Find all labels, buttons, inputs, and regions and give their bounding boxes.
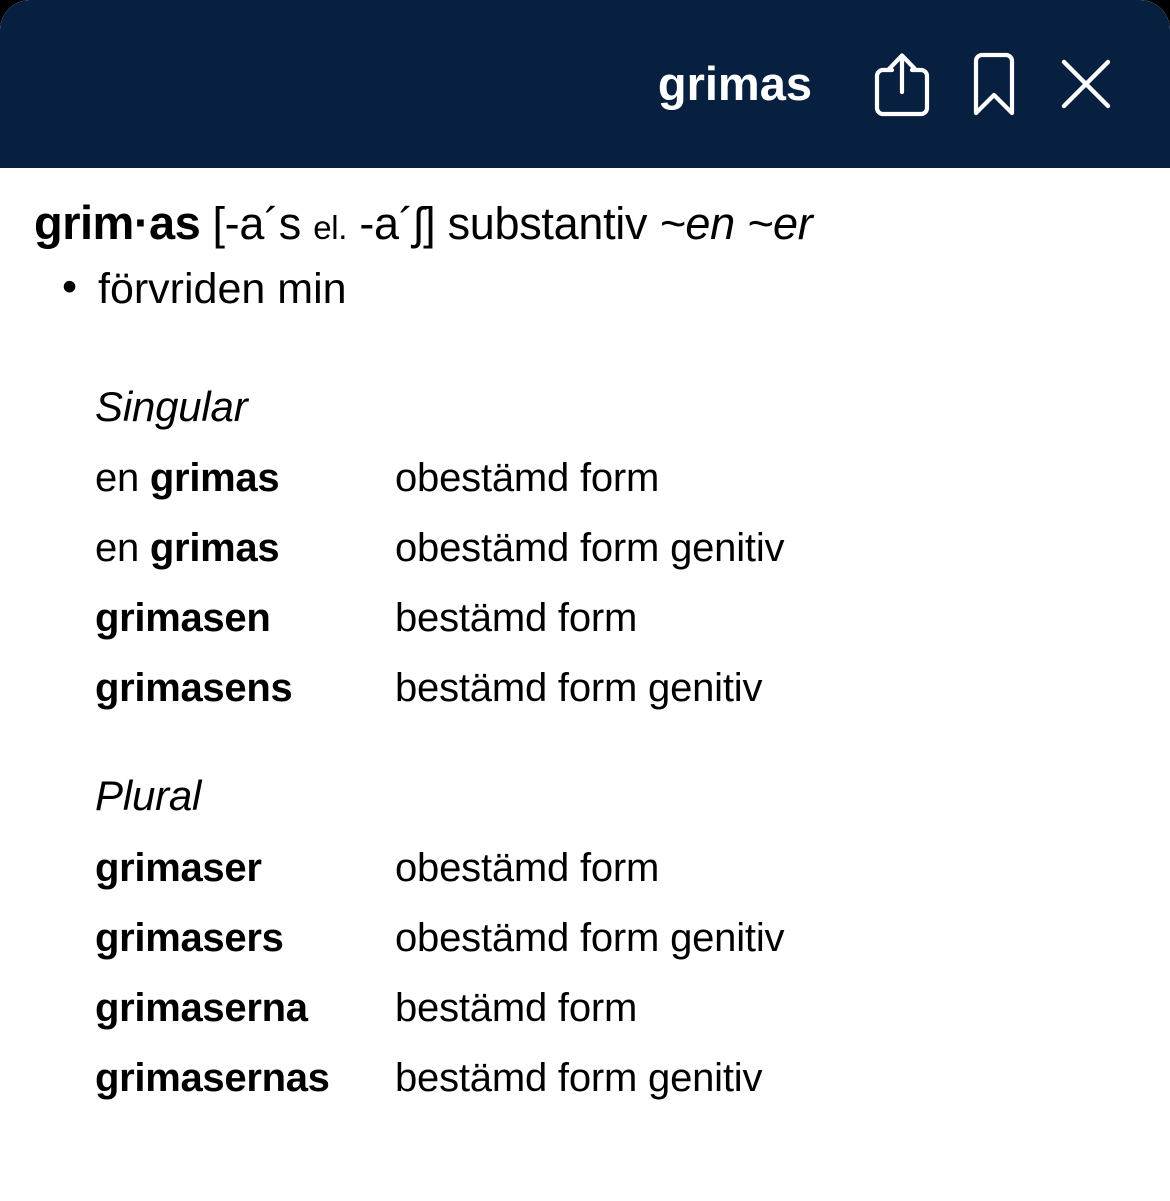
bookmark-icon <box>970 50 1018 118</box>
inflection-description: obestämd form <box>395 833 659 903</box>
inflection-row: grimaser obestämd form <box>95 833 1136 903</box>
inflection-form-cell: en grimas <box>95 513 395 583</box>
inflection-form: grimaser <box>95 846 262 890</box>
phonetic-alternative-label: el. <box>313 209 347 246</box>
inflection-row: en grimas obestämd form genitiv <box>95 513 1136 583</box>
inflection-description: bestämd form genitiv <box>395 1043 762 1113</box>
dictionary-entry-screen: grimas <box>0 0 1170 1201</box>
phonetic-close: -a´ʃ] <box>359 198 435 249</box>
inflection-row: grimasernas bestämd form genitiv <box>95 1043 1136 1113</box>
inflection-form-cell: grimasen <box>95 583 395 653</box>
inflection-row: grimasen bestämd form <box>95 583 1136 653</box>
page-title: grimas <box>658 60 812 109</box>
inflection-form-cell: grimasers <box>95 903 395 973</box>
inflection-form-cell: grimaser <box>95 833 395 903</box>
inflection-form: grimasernas <box>95 1056 330 1100</box>
inflection-description: bestämd form <box>395 583 637 653</box>
inflection-form-cell: grimasernas <box>95 1043 395 1113</box>
inflection-description: obestämd form <box>395 443 659 513</box>
definition-item: förvriden min <box>62 262 1136 318</box>
inflection-article: en <box>95 456 139 500</box>
inflection-form: grimas <box>150 526 279 570</box>
inflection-heading: Plural <box>95 771 1136 821</box>
inflection-form: grimasers <box>95 916 284 960</box>
entry-content: grim·as [-a´s el. -a´ʃ] substantiv ~en ~… <box>0 168 1170 1113</box>
word-class: substantiv <box>448 198 648 249</box>
inflection-form-cell: grimaserna <box>95 973 395 1043</box>
inflection-block-plural: Plural grimaser obestämd form grimasers … <box>95 771 1136 1113</box>
inflection-block-singular: Singular en grimas obestämd form en grim… <box>95 382 1136 724</box>
inflection-form: grimaserna <box>95 986 308 1030</box>
share-button[interactable] <box>856 34 948 134</box>
inflection-article: en <box>95 526 139 570</box>
app-header: grimas <box>0 0 1170 168</box>
inflection-form: grimasens <box>95 666 292 710</box>
inflection-form-cell: grimasens <box>95 653 395 723</box>
inflection-form-cell: en grimas <box>95 443 395 513</box>
close-icon <box>1057 55 1115 113</box>
share-icon <box>873 51 931 117</box>
close-button[interactable] <box>1040 34 1132 134</box>
phonetic-open: [-a´s <box>212 198 301 249</box>
bookmark-button[interactable] <box>948 34 1040 134</box>
definition-list: förvriden min <box>34 262 1136 318</box>
inflection-row: grimasens bestämd form genitiv <box>95 653 1136 723</box>
inflection-form: grimas <box>150 456 279 500</box>
inflection-pattern: ~en ~er <box>659 198 812 249</box>
inflection-description: obestämd form genitiv <box>395 513 784 583</box>
inflection-description: obestämd form genitiv <box>395 903 784 973</box>
inflection-description: bestämd form <box>395 973 637 1043</box>
inflection-heading: Singular <box>95 382 1136 432</box>
inflection-form: grimasen <box>95 596 270 640</box>
inflection-description: bestämd form genitiv <box>395 653 762 723</box>
inflection-row: grimaserna bestämd form <box>95 973 1136 1043</box>
headword: grim·as <box>34 196 200 249</box>
inflection-row: en grimas obestämd form <box>95 443 1136 513</box>
entry-headline: grim·as [-a´s el. -a´ʃ] substantiv ~en ~… <box>34 194 1136 252</box>
inflection-row: grimasers obestämd form genitiv <box>95 903 1136 973</box>
